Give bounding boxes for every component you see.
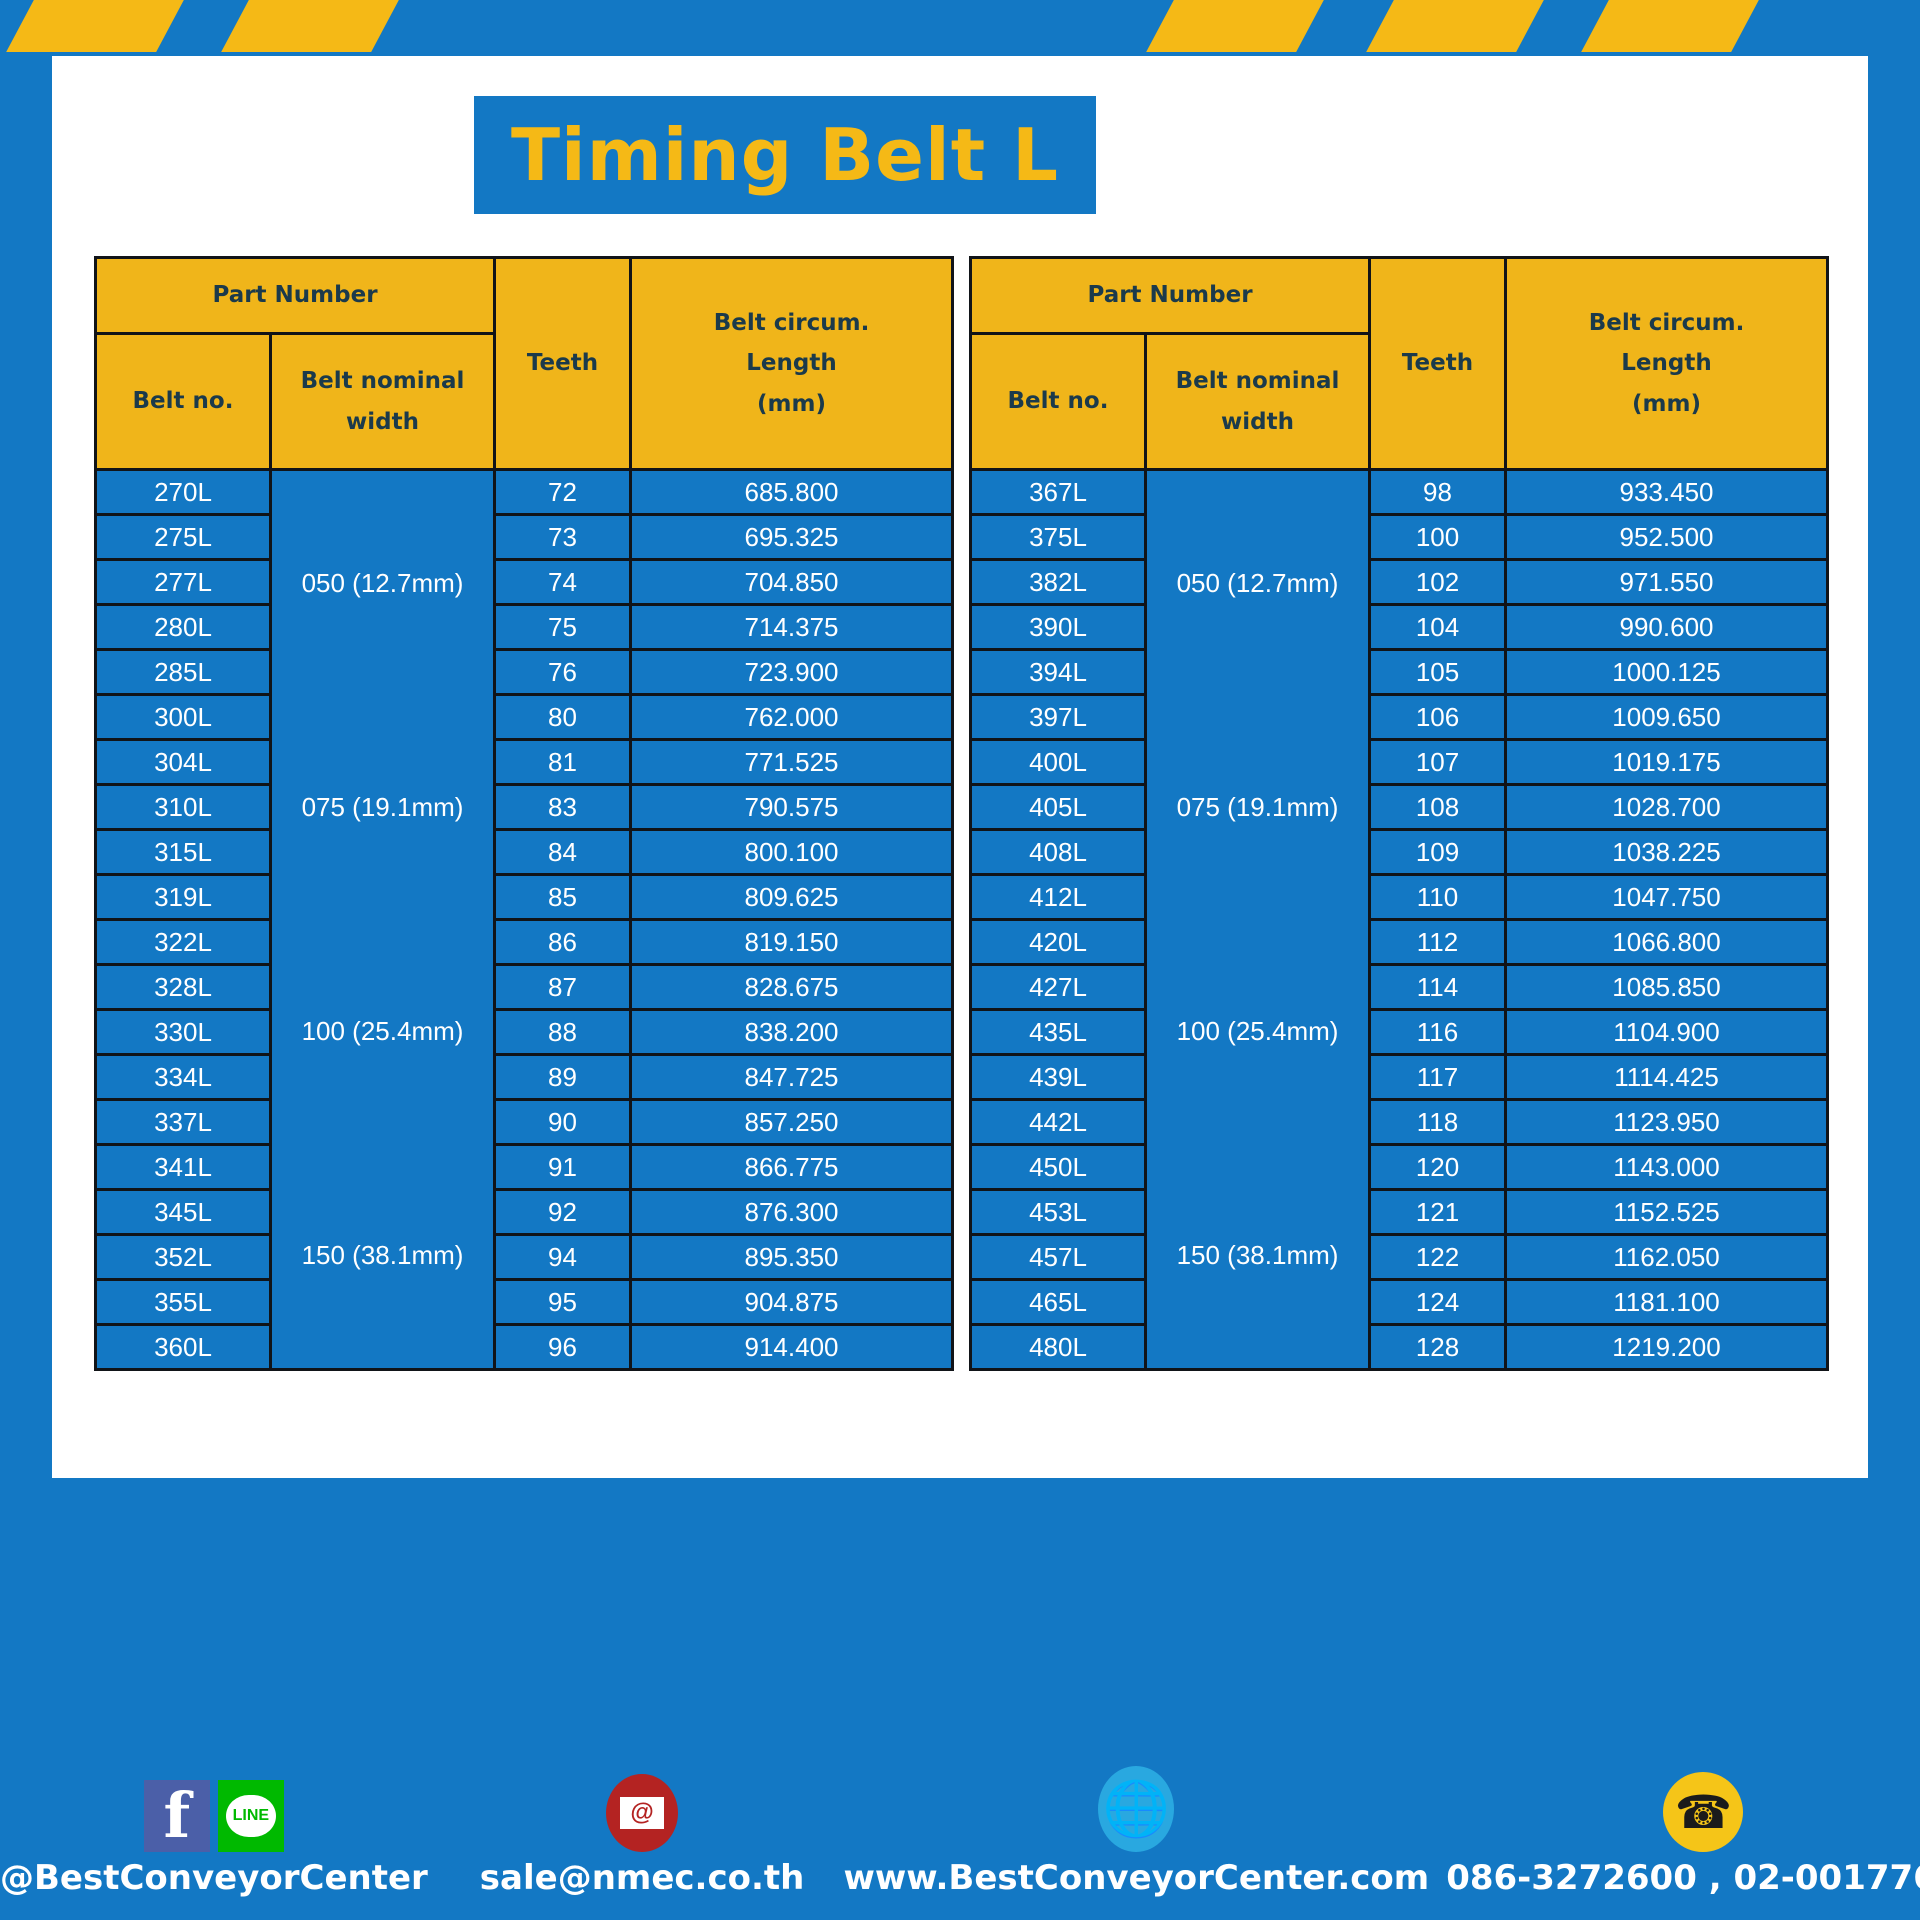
table-row: 280L75714.375 — [96, 605, 953, 650]
chevron-shape — [4, 0, 186, 52]
cell-belt-no: 480L — [971, 1325, 1146, 1370]
page-title: Timing Belt L — [474, 96, 1096, 214]
cell-belt-nominal-width: 050 (12.7mm)075 (19.1mm)100 (25.4mm)150 … — [271, 470, 495, 1370]
chevron-shape — [1579, 0, 1761, 52]
cell-length: 1143.000 — [1506, 1145, 1828, 1190]
cell-teeth: 89 — [495, 1055, 631, 1100]
header-width-line1: Belt nominal — [1149, 361, 1366, 401]
globe-icon-row: 🌐 — [1098, 1774, 1174, 1852]
cell-teeth: 104 — [1370, 605, 1506, 650]
cell-length: 762.000 — [631, 695, 953, 740]
cell-length: 704.850 — [631, 560, 953, 605]
cell-length: 904.875 — [631, 1280, 953, 1325]
cell-length: 866.775 — [631, 1145, 953, 1190]
cell-length: 714.375 — [631, 605, 953, 650]
cell-belt-no: 352L — [96, 1235, 271, 1280]
cell-length: 1181.100 — [1506, 1280, 1828, 1325]
table-row: 277L74704.850 — [96, 560, 953, 605]
cell-teeth: 84 — [495, 830, 631, 875]
cell-teeth: 128 — [1370, 1325, 1506, 1370]
header-belt-circum-line1: Belt circum. — [1509, 303, 1824, 343]
cell-teeth: 110 — [1370, 875, 1506, 920]
cell-length: 695.325 — [631, 515, 953, 560]
cell-belt-no: 453L — [971, 1190, 1146, 1235]
cell-teeth: 118 — [1370, 1100, 1506, 1145]
table-left-wrapper: Part Number Teeth Belt circum. Length (m… — [94, 256, 951, 1371]
cell-belt-no: 435L — [971, 1010, 1146, 1055]
width-option: 100 (25.4mm) — [272, 1016, 493, 1047]
cell-belt-no: 394L — [971, 650, 1146, 695]
cell-belt-no: 450L — [971, 1145, 1146, 1190]
table-row: 480L1281219.200 — [971, 1325, 1828, 1370]
cell-belt-no: 330L — [96, 1010, 271, 1055]
table-row: 382L102971.550 — [971, 560, 1828, 605]
cell-length: 1028.700 — [1506, 785, 1828, 830]
chevron-shape — [1364, 0, 1546, 52]
width-option: 150 (38.1mm) — [1147, 1240, 1368, 1271]
width-option: 075 (19.1mm) — [272, 792, 493, 823]
cell-belt-no: 345L — [96, 1190, 271, 1235]
cell-length: 800.100 — [631, 830, 953, 875]
cell-teeth: 85 — [495, 875, 631, 920]
cell-teeth: 83 — [495, 785, 631, 830]
table-row: 310L83790.575 — [96, 785, 953, 830]
header-length-line: Length — [634, 343, 949, 383]
email-icon[interactable] — [606, 1774, 678, 1852]
email-text: sale@nmec.co.th — [480, 1858, 805, 1898]
cell-teeth: 112 — [1370, 920, 1506, 965]
cell-belt-no: 285L — [96, 650, 271, 695]
footer-phone[interactable]: ☎ 086-3272600 , 02-0017766 — [1468, 1774, 1920, 1898]
cell-length: 1019.175 — [1506, 740, 1828, 785]
table-row: 442L1181123.950 — [971, 1100, 1828, 1145]
width-option: 050 (12.7mm) — [272, 568, 493, 599]
cell-length: 1162.050 — [1506, 1235, 1828, 1280]
cell-belt-no: 337L — [96, 1100, 271, 1145]
header-width-line2: width — [274, 402, 491, 442]
cell-length: 1104.900 — [1506, 1010, 1828, 1055]
table-row: 397L1061009.650 — [971, 695, 1828, 740]
table-left: Part Number Teeth Belt circum. Length (m… — [94, 256, 954, 1371]
cell-teeth: 75 — [495, 605, 631, 650]
poster-root: Timing Belt L Part Number Teeth Belt cir… — [0, 0, 1920, 1920]
table-row: 322L86819.150 — [96, 920, 953, 965]
table-row: 330L88838.200 — [96, 1010, 953, 1055]
cell-length: 971.550 — [1506, 560, 1828, 605]
cell-teeth: 105 — [1370, 650, 1506, 695]
cell-belt-no: 275L — [96, 515, 271, 560]
cell-belt-no: 439L — [971, 1055, 1146, 1100]
cell-teeth: 86 — [495, 920, 631, 965]
cell-belt-no: 408L — [971, 830, 1146, 875]
cell-length: 771.525 — [631, 740, 953, 785]
table-row: 394L1051000.125 — [971, 650, 1828, 695]
cell-teeth: 102 — [1370, 560, 1506, 605]
cell-belt-no: 382L — [971, 560, 1146, 605]
cell-belt-no: 315L — [96, 830, 271, 875]
width-option: 150 (38.1mm) — [272, 1240, 493, 1271]
footer-contact-row: f LINE @BestConveyorCenter sale@nmec.co.… — [0, 1748, 1920, 1898]
email-icon-row — [606, 1774, 678, 1852]
facebook-icon[interactable]: f — [144, 1780, 210, 1852]
phone-text: 086-3272600 , 02-0017766 — [1446, 1858, 1920, 1898]
header-teeth-left: Teeth — [495, 258, 631, 470]
cell-length: 857.250 — [631, 1100, 953, 1145]
footer-social[interactable]: f LINE @BestConveyorCenter — [0, 1774, 428, 1898]
table-row: 334L89847.725 — [96, 1055, 953, 1100]
cell-length: 990.600 — [1506, 605, 1828, 650]
cell-length: 1009.650 — [1506, 695, 1828, 740]
chevron-shape — [1144, 0, 1326, 52]
table-row: 352L94895.350 — [96, 1235, 953, 1280]
table-row: 275L73695.325 — [96, 515, 953, 560]
table-row: 439L1171114.425 — [971, 1055, 1828, 1100]
cell-length: 895.350 — [631, 1235, 953, 1280]
social-handle-text: @BestConveyorCenter — [0, 1858, 428, 1898]
cell-length: 838.200 — [631, 1010, 953, 1055]
cell-belt-no: 400L — [971, 740, 1146, 785]
table-right-body: 367L050 (12.7mm)075 (19.1mm)100 (25.4mm)… — [971, 470, 1828, 1370]
cell-belt-no: 465L — [971, 1280, 1146, 1325]
cell-belt-no: 277L — [96, 560, 271, 605]
table-row: 412L1101047.750 — [971, 875, 1828, 920]
table-row: 400L1071019.175 — [971, 740, 1828, 785]
cell-belt-no: 304L — [96, 740, 271, 785]
table-left-body: 270L050 (12.7mm)075 (19.1mm)100 (25.4mm)… — [96, 470, 953, 1370]
cell-length: 952.500 — [1506, 515, 1828, 560]
table-row: 270L050 (12.7mm)075 (19.1mm)100 (25.4mm)… — [96, 470, 953, 515]
chevron-shape — [219, 0, 401, 52]
cell-teeth: 90 — [495, 1100, 631, 1145]
cell-teeth: 74 — [495, 560, 631, 605]
cell-length: 1038.225 — [1506, 830, 1828, 875]
table-row: 408L1091038.225 — [971, 830, 1828, 875]
cell-belt-no: 405L — [971, 785, 1146, 830]
cell-belt-no: 319L — [96, 875, 271, 920]
cell-length: 1152.525 — [1506, 1190, 1828, 1235]
table-row: 328L87828.675 — [96, 965, 953, 1010]
cell-belt-no: 457L — [971, 1235, 1146, 1280]
cell-length: 1047.750 — [1506, 875, 1828, 920]
table-row: 355L95904.875 — [96, 1280, 953, 1325]
header-length-line: Length — [1509, 343, 1824, 383]
header-width-line1: Belt nominal — [274, 361, 491, 401]
header-width-line2: width — [1149, 402, 1366, 442]
table-row: 285L76723.900 — [96, 650, 953, 695]
cell-belt-no: 427L — [971, 965, 1146, 1010]
cell-length: 790.575 — [631, 785, 953, 830]
cell-teeth: 91 — [495, 1145, 631, 1190]
cell-belt-no: 328L — [96, 965, 271, 1010]
table-row: 465L1241181.100 — [971, 1280, 1828, 1325]
header-mm-line: (mm) — [634, 384, 949, 424]
table-row: 341L91866.775 — [96, 1145, 953, 1190]
cell-length: 1085.850 — [1506, 965, 1828, 1010]
cell-teeth: 106 — [1370, 695, 1506, 740]
header-belt-circum-line1: Belt circum. — [634, 303, 949, 343]
cell-teeth: 80 — [495, 695, 631, 740]
cell-belt-no: 360L — [96, 1325, 271, 1370]
cell-teeth: 92 — [495, 1190, 631, 1235]
line-icon[interactable]: LINE — [218, 1780, 284, 1852]
header-belt-circum-right: Belt circum. Length (mm) — [1506, 258, 1828, 470]
table-row: 315L84800.100 — [96, 830, 953, 875]
table-row: 360L96914.400 — [96, 1325, 953, 1370]
cell-teeth: 94 — [495, 1235, 631, 1280]
cell-belt-no: 270L — [96, 470, 271, 515]
footer: f LINE @BestConveyorCenter sale@nmec.co.… — [0, 1478, 1920, 1920]
table-row: 420L1121066.800 — [971, 920, 1828, 965]
phone-icon-row: ☎ — [1663, 1774, 1743, 1852]
cell-length: 723.900 — [631, 650, 953, 695]
table-row: 300L80762.000 — [96, 695, 953, 740]
cell-teeth: 108 — [1370, 785, 1506, 830]
cell-teeth: 96 — [495, 1325, 631, 1370]
cell-teeth: 116 — [1370, 1010, 1506, 1055]
cell-belt-no: 322L — [96, 920, 271, 965]
table-row: 319L85809.625 — [96, 875, 953, 920]
cell-belt-no: 300L — [96, 695, 271, 740]
table-row: 390L104990.600 — [971, 605, 1828, 650]
cell-length: 1000.125 — [1506, 650, 1828, 695]
table-row: 457L1221162.050 — [971, 1235, 1828, 1280]
cell-length: 819.150 — [631, 920, 953, 965]
cell-teeth: 72 — [495, 470, 631, 515]
cell-teeth: 109 — [1370, 830, 1506, 875]
cell-belt-no: 355L — [96, 1280, 271, 1325]
table-row: 450L1201143.000 — [971, 1145, 1828, 1190]
table-row: 405L1081028.700 — [971, 785, 1828, 830]
cell-length: 914.400 — [631, 1325, 953, 1370]
cell-teeth: 98 — [1370, 470, 1506, 515]
table-right: Part Number Teeth Belt circum. Length (m… — [969, 256, 1829, 1371]
cell-teeth: 124 — [1370, 1280, 1506, 1325]
table-row: 345L92876.300 — [96, 1190, 953, 1235]
globe-icon[interactable]: 🌐 — [1098, 1766, 1174, 1852]
cell-belt-no: 375L — [971, 515, 1146, 560]
cell-length: 828.675 — [631, 965, 953, 1010]
cell-teeth: 114 — [1370, 965, 1506, 1010]
cell-teeth: 121 — [1370, 1190, 1506, 1235]
width-option: 100 (25.4mm) — [1147, 1016, 1368, 1047]
cell-length: 1219.200 — [1506, 1325, 1828, 1370]
table-row: 375L100952.500 — [971, 515, 1828, 560]
content-card: Timing Belt L Part Number Teeth Belt cir… — [52, 56, 1868, 1478]
cell-belt-no: 420L — [971, 920, 1146, 965]
cell-belt-no: 390L — [971, 605, 1146, 650]
cell-belt-no: 310L — [96, 785, 271, 830]
cell-teeth: 100 — [1370, 515, 1506, 560]
cell-length: 1066.800 — [1506, 920, 1828, 965]
header-belt-nominal-width-left: Belt nominal width — [271, 334, 495, 470]
table-right-wrapper: Part Number Teeth Belt circum. Length (m… — [969, 256, 1826, 1371]
cell-teeth: 117 — [1370, 1055, 1506, 1100]
footer-website[interactable]: 🌐 www.BestConveyorCenter.com — [856, 1774, 1416, 1898]
cell-length: 1114.425 — [1506, 1055, 1828, 1100]
cell-belt-no: 412L — [971, 875, 1146, 920]
tables-container: Part Number Teeth Belt circum. Length (m… — [94, 256, 1826, 1371]
cell-length: 1123.950 — [1506, 1100, 1828, 1145]
social-icons: f LINE — [144, 1774, 284, 1852]
cell-teeth: 76 — [495, 650, 631, 695]
footer-email[interactable]: sale@nmec.co.th — [480, 1774, 805, 1898]
cell-teeth: 107 — [1370, 740, 1506, 785]
website-text: www.BestConveyorCenter.com — [843, 1858, 1429, 1898]
cell-teeth: 120 — [1370, 1145, 1506, 1190]
cell-length: 876.300 — [631, 1190, 953, 1235]
width-option: 075 (19.1mm) — [1147, 792, 1368, 823]
table-row: 427L1141085.850 — [971, 965, 1828, 1010]
header-belt-no-right: Belt no. — [971, 334, 1146, 470]
cell-belt-no: 367L — [971, 470, 1146, 515]
cell-belt-no: 341L — [96, 1145, 271, 1190]
header-teeth-right: Teeth — [1370, 258, 1506, 470]
page-title-text: Timing Belt L — [511, 113, 1059, 197]
cell-belt-no: 280L — [96, 605, 271, 650]
cell-belt-no: 334L — [96, 1055, 271, 1100]
phone-icon[interactable]: ☎ — [1663, 1772, 1743, 1852]
table-row: 453L1211152.525 — [971, 1190, 1828, 1235]
header-belt-circum-left: Belt circum. Length (mm) — [631, 258, 953, 470]
cell-belt-no: 442L — [971, 1100, 1146, 1145]
cell-length: 685.800 — [631, 470, 953, 515]
header-part-number-right: Part Number — [971, 258, 1370, 334]
table-row: 435L1161104.900 — [971, 1010, 1828, 1055]
cell-teeth: 95 — [495, 1280, 631, 1325]
cell-length: 933.450 — [1506, 470, 1828, 515]
cell-teeth: 81 — [495, 740, 631, 785]
table-row: 304L81771.525 — [96, 740, 953, 785]
header-belt-no-left: Belt no. — [96, 334, 271, 470]
table-row: 367L050 (12.7mm)075 (19.1mm)100 (25.4mm)… — [971, 470, 1828, 515]
width-option: 050 (12.7mm) — [1147, 568, 1368, 599]
header-mm-line: (mm) — [1509, 384, 1824, 424]
cell-length: 847.725 — [631, 1055, 953, 1100]
header-belt-nominal-width-right: Belt nominal width — [1146, 334, 1370, 470]
top-chevron-band — [0, 0, 1920, 52]
cell-teeth: 122 — [1370, 1235, 1506, 1280]
header-part-number-left: Part Number — [96, 258, 495, 334]
cell-length: 809.625 — [631, 875, 953, 920]
cell-teeth: 88 — [495, 1010, 631, 1055]
cell-teeth: 87 — [495, 965, 631, 1010]
cell-belt-nominal-width: 050 (12.7mm)075 (19.1mm)100 (25.4mm)150 … — [1146, 470, 1370, 1370]
cell-teeth: 73 — [495, 515, 631, 560]
cell-belt-no: 397L — [971, 695, 1146, 740]
line-icon-label: LINE — [226, 1795, 276, 1837]
table-row: 337L90857.250 — [96, 1100, 953, 1145]
